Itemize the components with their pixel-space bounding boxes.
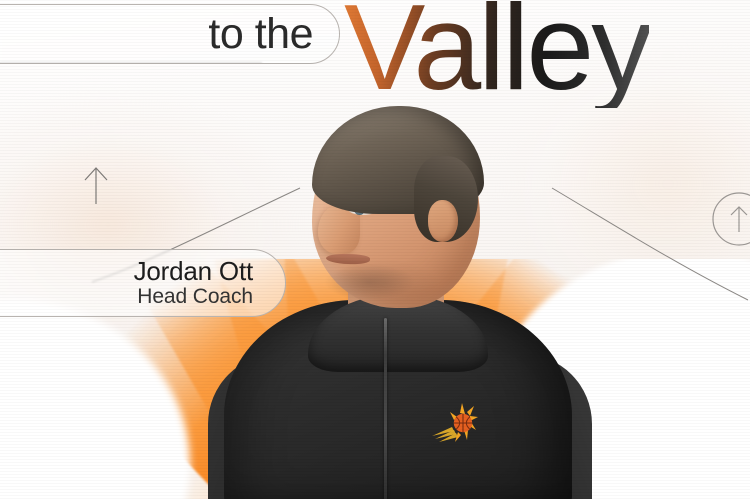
valley-wordmark: Valley — [344, 0, 649, 108]
jacket-zipper — [384, 318, 387, 499]
chin-stubble — [324, 260, 432, 306]
coach-role: Head Coach — [137, 286, 253, 308]
coach-name-card: Jordan Ott Head Coach — [0, 249, 286, 317]
to-the-pill: to the — [0, 4, 340, 64]
coach-portrait — [232, 104, 562, 499]
suns-coach-announcement-graphic: to the Valley Jordan Ott Head Coach — [0, 0, 750, 499]
coach-name: Jordan Ott — [134, 258, 253, 285]
circle-up-arrow-icon — [710, 190, 750, 248]
phoenix-suns-sunburst-logo — [430, 400, 480, 444]
to-the-label: to the — [208, 13, 313, 56]
ear — [428, 200, 458, 242]
